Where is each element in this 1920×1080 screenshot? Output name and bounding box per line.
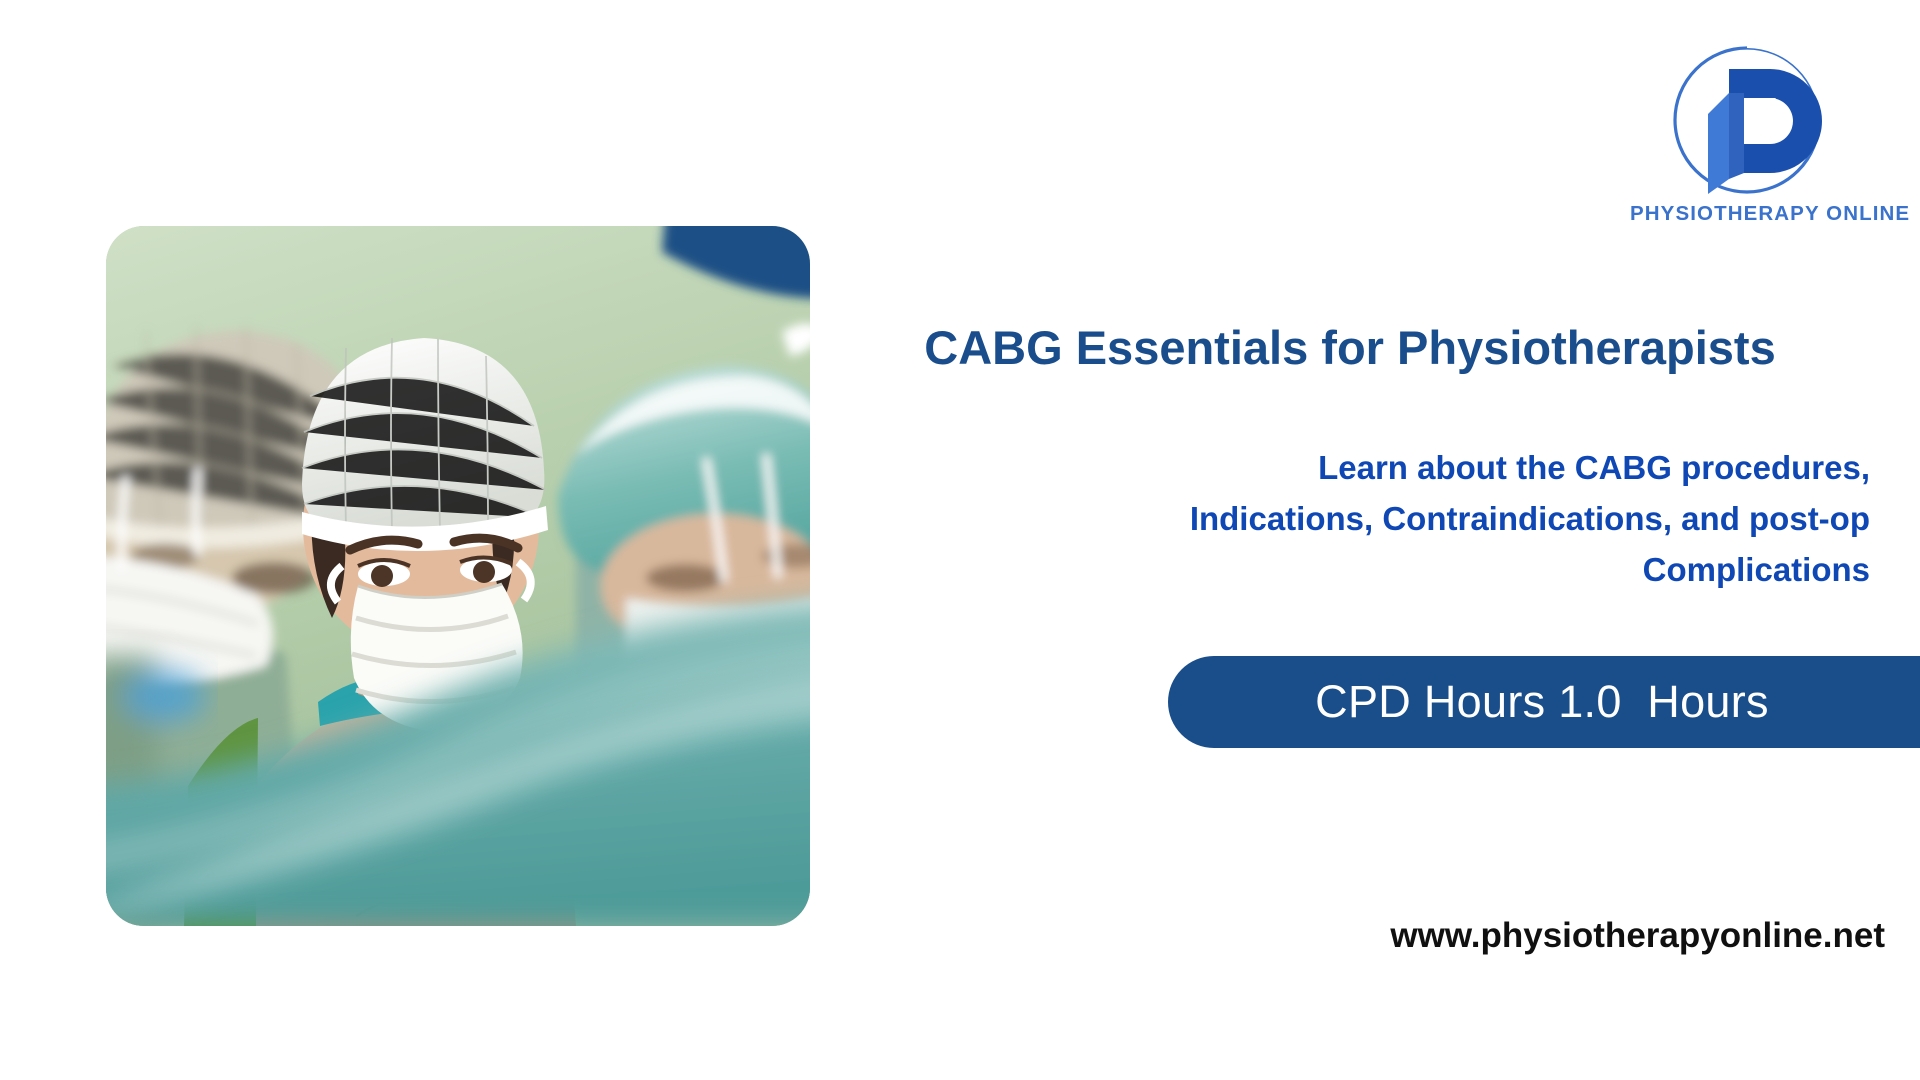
brand-wordmark: PHYSIOTHERAPY ONLINE xyxy=(1630,202,1900,226)
subtitle-line-2: Indications, Contraindications, and post… xyxy=(930,494,1870,545)
page-title: CABG Essentials for Physiotherapists xyxy=(830,322,1870,375)
surgical-team-photo xyxy=(106,226,810,926)
website-url[interactable]: www.physiotherapyonline.net xyxy=(900,916,1885,956)
cpd-hours-badge[interactable]: CPD Hours 1.0 Hours xyxy=(1168,656,1920,748)
subtitle-line-3: Complications xyxy=(930,545,1870,596)
surgical-team-photo-icon xyxy=(106,226,810,926)
subtitle-line-1: Learn about the CABG procedures, xyxy=(930,443,1870,494)
cpd-hours-label: CPD Hours 1.0 Hours xyxy=(1315,676,1769,728)
page-subtitle: Learn about the CABG procedures, Indicat… xyxy=(930,443,1870,595)
promo-banner: PHYSIOTHERAPY ONLINE xyxy=(0,0,1920,1080)
brand-logo[interactable]: PHYSIOTHERAPY ONLINE xyxy=(1630,42,1900,242)
physiotherapy-online-p-logo-icon xyxy=(1652,42,1842,202)
